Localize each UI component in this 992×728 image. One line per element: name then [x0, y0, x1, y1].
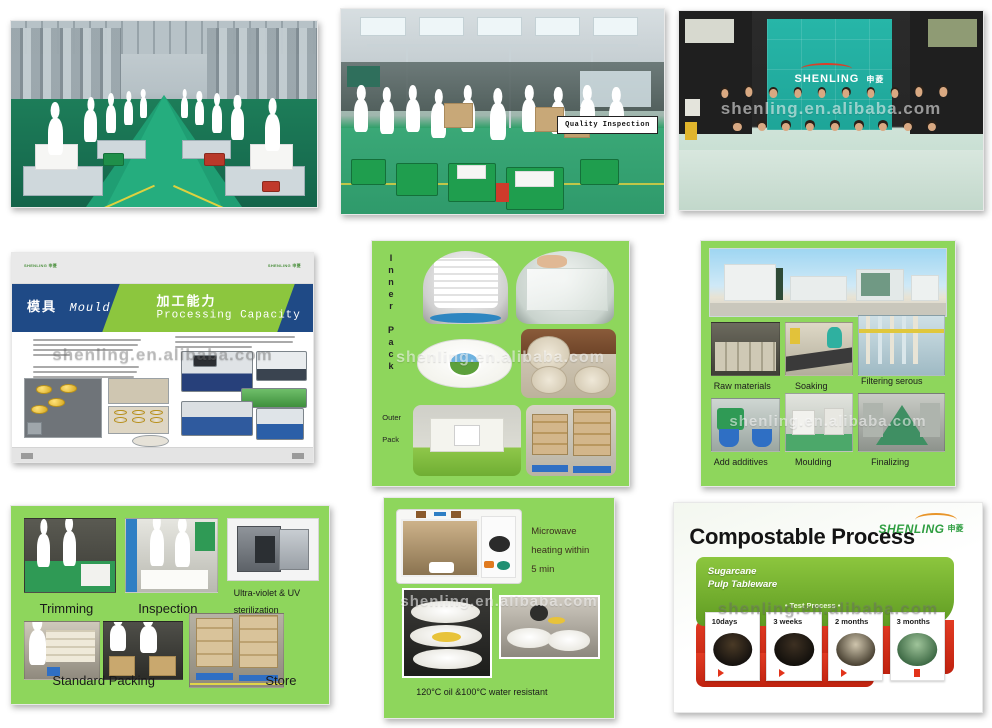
process-label-soaking: Soaking — [795, 381, 828, 391]
compostable-stage-label: 2 months — [835, 617, 868, 626]
panel-compostable-process[interactable]: Compostable Process SHENLING 申菱 Sugarcan… — [673, 502, 983, 713]
outer-pack-label-line2: Pack — [382, 435, 399, 444]
panel-mould-processing-capacity[interactable]: SHENLING 申菱 SHENLING 申菱 模具 Mould 加工能力 Pr… — [11, 252, 314, 463]
compostable-stage-card[interactable]: 2 months — [828, 612, 883, 681]
performance-microwave-note-line3: 5 min — [531, 560, 609, 579]
finishing-photo-standard-packing — [24, 621, 100, 680]
panel-process-flow[interactable]: Raw materials Soaking Filtering serous A… — [700, 240, 956, 487]
brochure-title-right: 加工能力 Processing Capacity — [156, 291, 300, 322]
process-label-finalizing: Finalizing — [871, 457, 909, 467]
image-gallery: Quality Inspection shenling.en.alibaba.c… — [0, 0, 992, 728]
shenling-logo-cn: 申菱 — [866, 75, 884, 84]
process-label-raw-materials: Raw materials — [714, 381, 771, 391]
pack-photo-pallet-cartons — [526, 405, 616, 476]
brochure-title-left-cn: 模具 — [27, 299, 57, 314]
compostable-subtitle: Sugarcane Pulp Tableware — [708, 566, 777, 592]
process-photo-soaking — [785, 322, 854, 376]
finishing-label-trimming: Trimming — [40, 601, 94, 616]
brochure-logo-right: SHENLING 申菱 — [268, 263, 301, 269]
compostable-subtitle-line2: Pulp Tableware — [708, 579, 777, 592]
panel-performance[interactable]: Microwave heating within 5 min 120°C oil… — [383, 497, 615, 719]
process-label-moulding: Moulding — [795, 457, 832, 467]
process-photo-add-additives — [711, 398, 780, 452]
shenling-logo-signboard: SHENLING 申菱 — [795, 73, 885, 85]
panel-staff-group-photo[interactable]: SHENLING 申菱 — [678, 10, 984, 211]
compostable-stage-card[interactable]: 3 weeks — [766, 612, 821, 681]
compost-pot-icon — [898, 633, 938, 666]
compostable-test-process-label: • Test Process • — [785, 601, 841, 610]
shenling-logo-cn: 申菱 — [948, 523, 964, 534]
inner-pack-label: Inner Pack — [385, 253, 397, 373]
outer-pack-label-line1: Outer — [382, 413, 401, 422]
panel-production-line[interactable] — [10, 20, 318, 208]
performance-microwave-note-line2: heating within — [531, 541, 609, 560]
compostable-stage-label: 10days — [712, 617, 737, 626]
finishing-label-standard-packing: Standard Packing — [52, 673, 155, 688]
process-photo-filtering-serous — [858, 315, 944, 376]
performance-photo-water-plates — [499, 595, 600, 659]
process-photo-finalizing — [858, 393, 944, 452]
performance-microwave-note: Microwave heating within 5 min — [531, 522, 609, 579]
shenling-logo-text: SHENLING — [879, 522, 945, 536]
brochure-logo-left: SHENLING 申菱 — [24, 263, 57, 269]
factory-panorama-photo — [709, 248, 948, 317]
process-label-add-additives: Add additives — [714, 457, 768, 467]
process-photo-moulding — [785, 393, 854, 452]
pack-photo-printed-plates — [521, 329, 616, 398]
compost-pot-icon — [774, 633, 814, 666]
finishing-photo-inspection — [125, 518, 217, 593]
stage-arrow-icon — [779, 669, 785, 677]
panel-finishing-steps[interactable]: Trimming Inspection Ultra-violet & UV st… — [10, 505, 330, 705]
compostable-subtitle-line1: Sugarcane — [708, 566, 777, 579]
pack-photo-wrapped-stack — [423, 251, 508, 325]
performance-resistance-note: 120°C oil &100°C water resistant — [416, 687, 547, 697]
brochure-title-right-en: Processing Capacity — [156, 310, 300, 322]
quality-inspection-label: Quality Inspection — [557, 116, 657, 134]
pack-photo-oval-plate — [413, 329, 516, 398]
stage-arrow-icon — [718, 669, 724, 677]
compostable-stage-card[interactable]: 3 months — [890, 612, 945, 681]
panel-packing[interactable]: Inner Pack Outer Pack — [371, 240, 630, 487]
performance-photo-oil-plates — [402, 588, 492, 678]
shenling-logo-text: SHENLING — [795, 73, 860, 85]
compostable-stage-label: 3 weeks — [773, 617, 802, 626]
finishing-photo-carton-packing — [103, 621, 183, 680]
pack-photo-poly-bag — [516, 251, 614, 325]
brochure-title-left: 模具 Mould — [27, 296, 110, 316]
finishing-photo-uv-sterilizer — [227, 518, 319, 581]
shenling-logo-compostable: SHENLING 申菱 — [879, 522, 964, 536]
pack-photo-retail-carton — [413, 405, 521, 476]
brochure-title-right-cn: 加工能力 — [156, 291, 300, 310]
finishing-label-store: Store — [265, 673, 296, 688]
process-label-filtering-serous: Filtering serous — [861, 376, 923, 386]
compost-pot-icon — [836, 633, 876, 666]
stage-stop-icon — [914, 669, 920, 677]
compostable-stage-label: 3 months — [897, 617, 930, 626]
compost-pot-icon — [713, 633, 753, 666]
compostable-stage-card[interactable]: 10days — [705, 612, 760, 681]
performance-photo-microwave — [396, 509, 523, 584]
brochure-title-left-en: Mould — [70, 301, 111, 315]
performance-microwave-note-line1: Microwave — [531, 522, 609, 541]
stage-arrow-icon — [841, 669, 847, 677]
panel-quality-inspection[interactable]: Quality Inspection shenling.en.alibaba.c… — [340, 8, 665, 215]
process-photo-raw-materials — [711, 322, 780, 376]
finishing-photo-trimming — [24, 518, 116, 593]
